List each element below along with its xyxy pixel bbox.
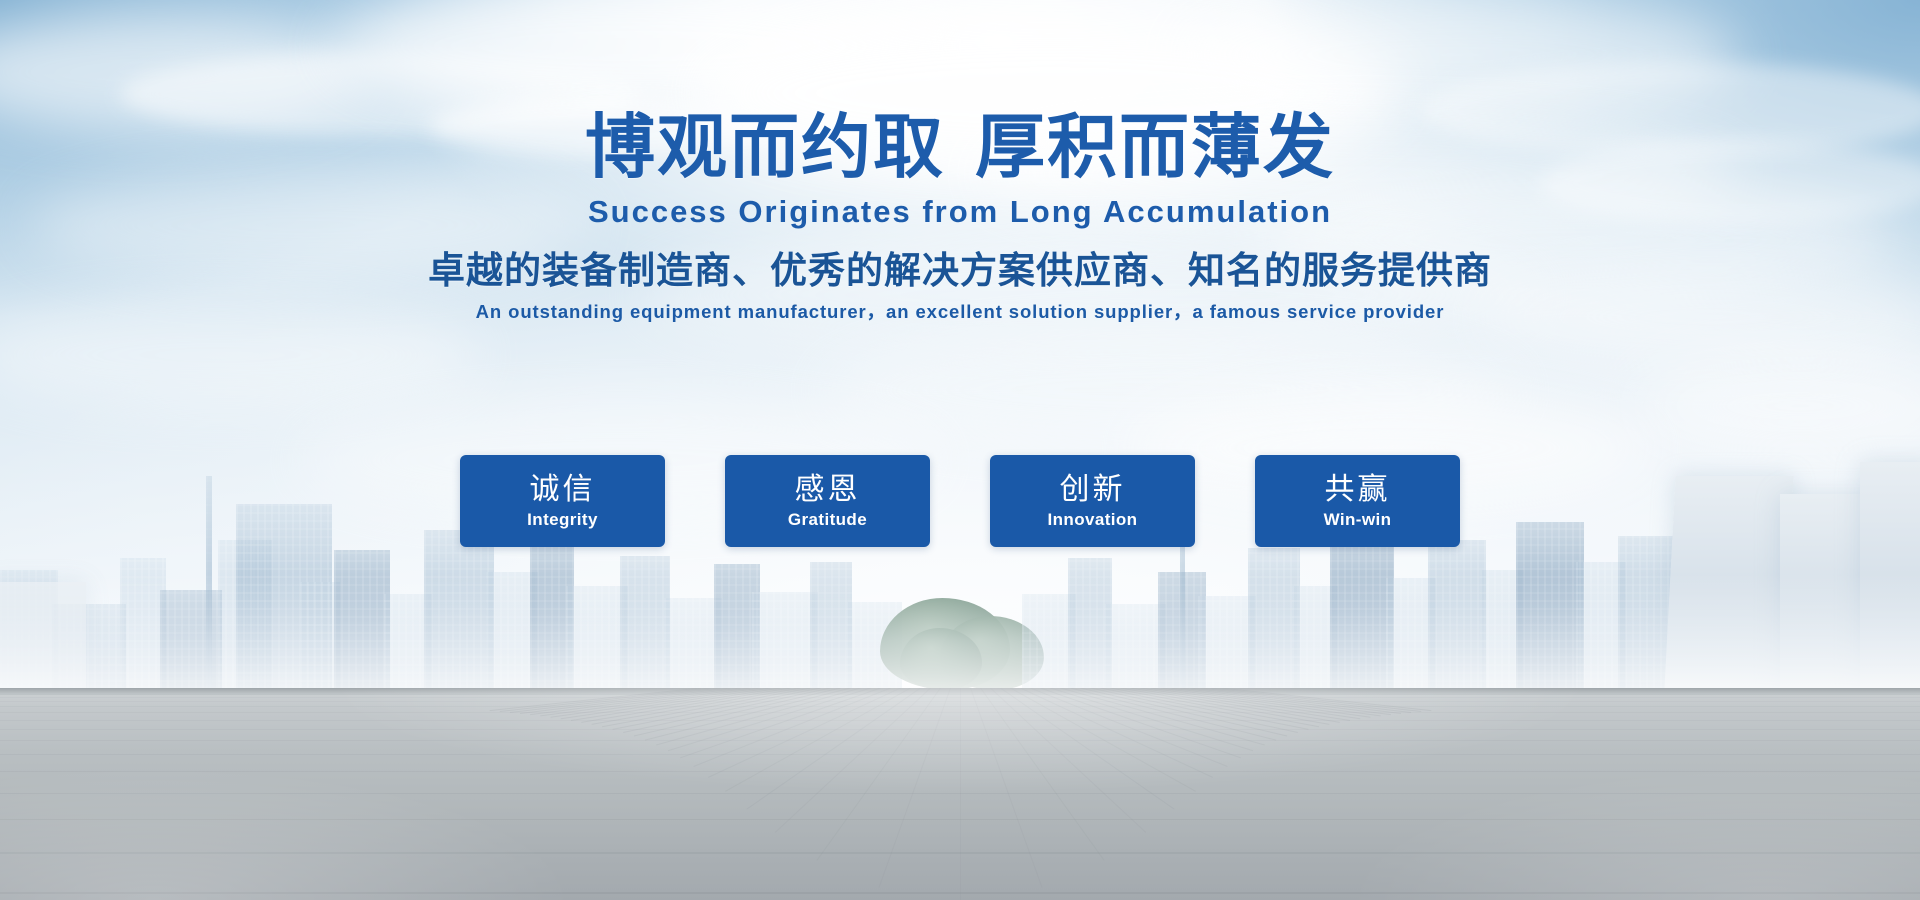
value-card-english: Integrity (527, 511, 598, 528)
headline-chinese-part2: 厚积而薄发 (975, 108, 1335, 186)
banner-content: 博观而约取厚积而薄发 Success Originates from Long … (0, 0, 1920, 900)
value-card-english: Innovation (1048, 511, 1138, 528)
value-card-gratitude[interactable]: 感恩 Gratitude (725, 455, 930, 547)
core-values-list: 诚信 Integrity 感恩 Gratitude 创新 Innovation … (0, 455, 1920, 547)
headline-chinese: 博观而约取厚积而薄发 (0, 112, 1920, 182)
hero-banner: 博观而约取厚积而薄发 Success Originates from Long … (0, 0, 1920, 900)
value-card-chinese: 感恩 (795, 474, 861, 506)
value-card-chinese: 诚信 (530, 474, 596, 506)
headline-chinese-part1: 博观而约取 (585, 108, 945, 186)
value-card-winwin[interactable]: 共赢 Win-win (1255, 455, 1460, 547)
value-card-chinese: 共赢 (1325, 474, 1391, 506)
subheadline-chinese: 卓越的装备制造商、优秀的解决方案供应商、知名的服务提供商 (0, 252, 1920, 289)
value-card-chinese: 创新 (1060, 474, 1126, 506)
value-card-english: Gratitude (788, 511, 867, 528)
subheadline-english: An outstanding equipment manufacturer，an… (0, 303, 1920, 322)
value-card-integrity[interactable]: 诚信 Integrity (460, 455, 665, 547)
value-card-english: Win-win (1324, 511, 1392, 528)
headline-english: Success Originates from Long Accumulatio… (0, 196, 1920, 227)
subheadline-block: 卓越的装备制造商、优秀的解决方案供应商、知名的服务提供商 An outstand… (0, 252, 1920, 322)
headline-block: 博观而约取厚积而薄发 Success Originates from Long … (0, 112, 1920, 227)
value-card-innovation[interactable]: 创新 Innovation (990, 455, 1195, 547)
